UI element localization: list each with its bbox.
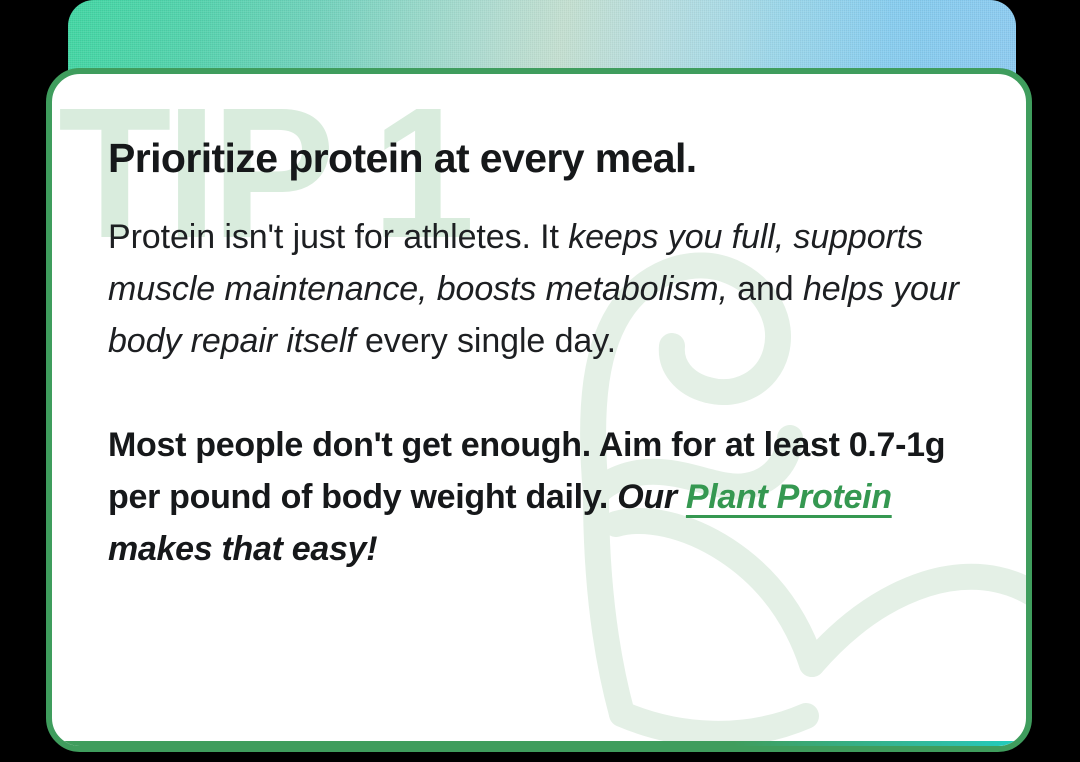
body-text-seg2: and (728, 270, 803, 308)
body-text-seg1: Protein isn't just for athletes. It (108, 218, 568, 256)
page-title: Prioritize protein at every meal. (108, 136, 970, 181)
paragraph-spacer (108, 367, 970, 419)
callout-paragraph: Most people don't get enough. Aim for at… (108, 419, 970, 575)
gradient-banner (68, 0, 1016, 78)
body-text-seg3: every single day. (356, 322, 616, 360)
tip-card: TIP 1 (46, 68, 1032, 752)
plant-protein-link[interactable]: Plant Protein (686, 478, 892, 516)
grain-texture (68, 0, 1016, 78)
card-bottom-accent (52, 741, 1026, 749)
tip-card-stage: TIP 1 (0, 0, 1080, 762)
callout-seg3: makes that easy! (108, 530, 377, 568)
body-paragraph: Protein isn't just for athletes. It keep… (108, 211, 970, 367)
callout-seg2: Our (617, 478, 686, 516)
card-content: Prioritize protein at every meal. Protei… (108, 136, 970, 575)
